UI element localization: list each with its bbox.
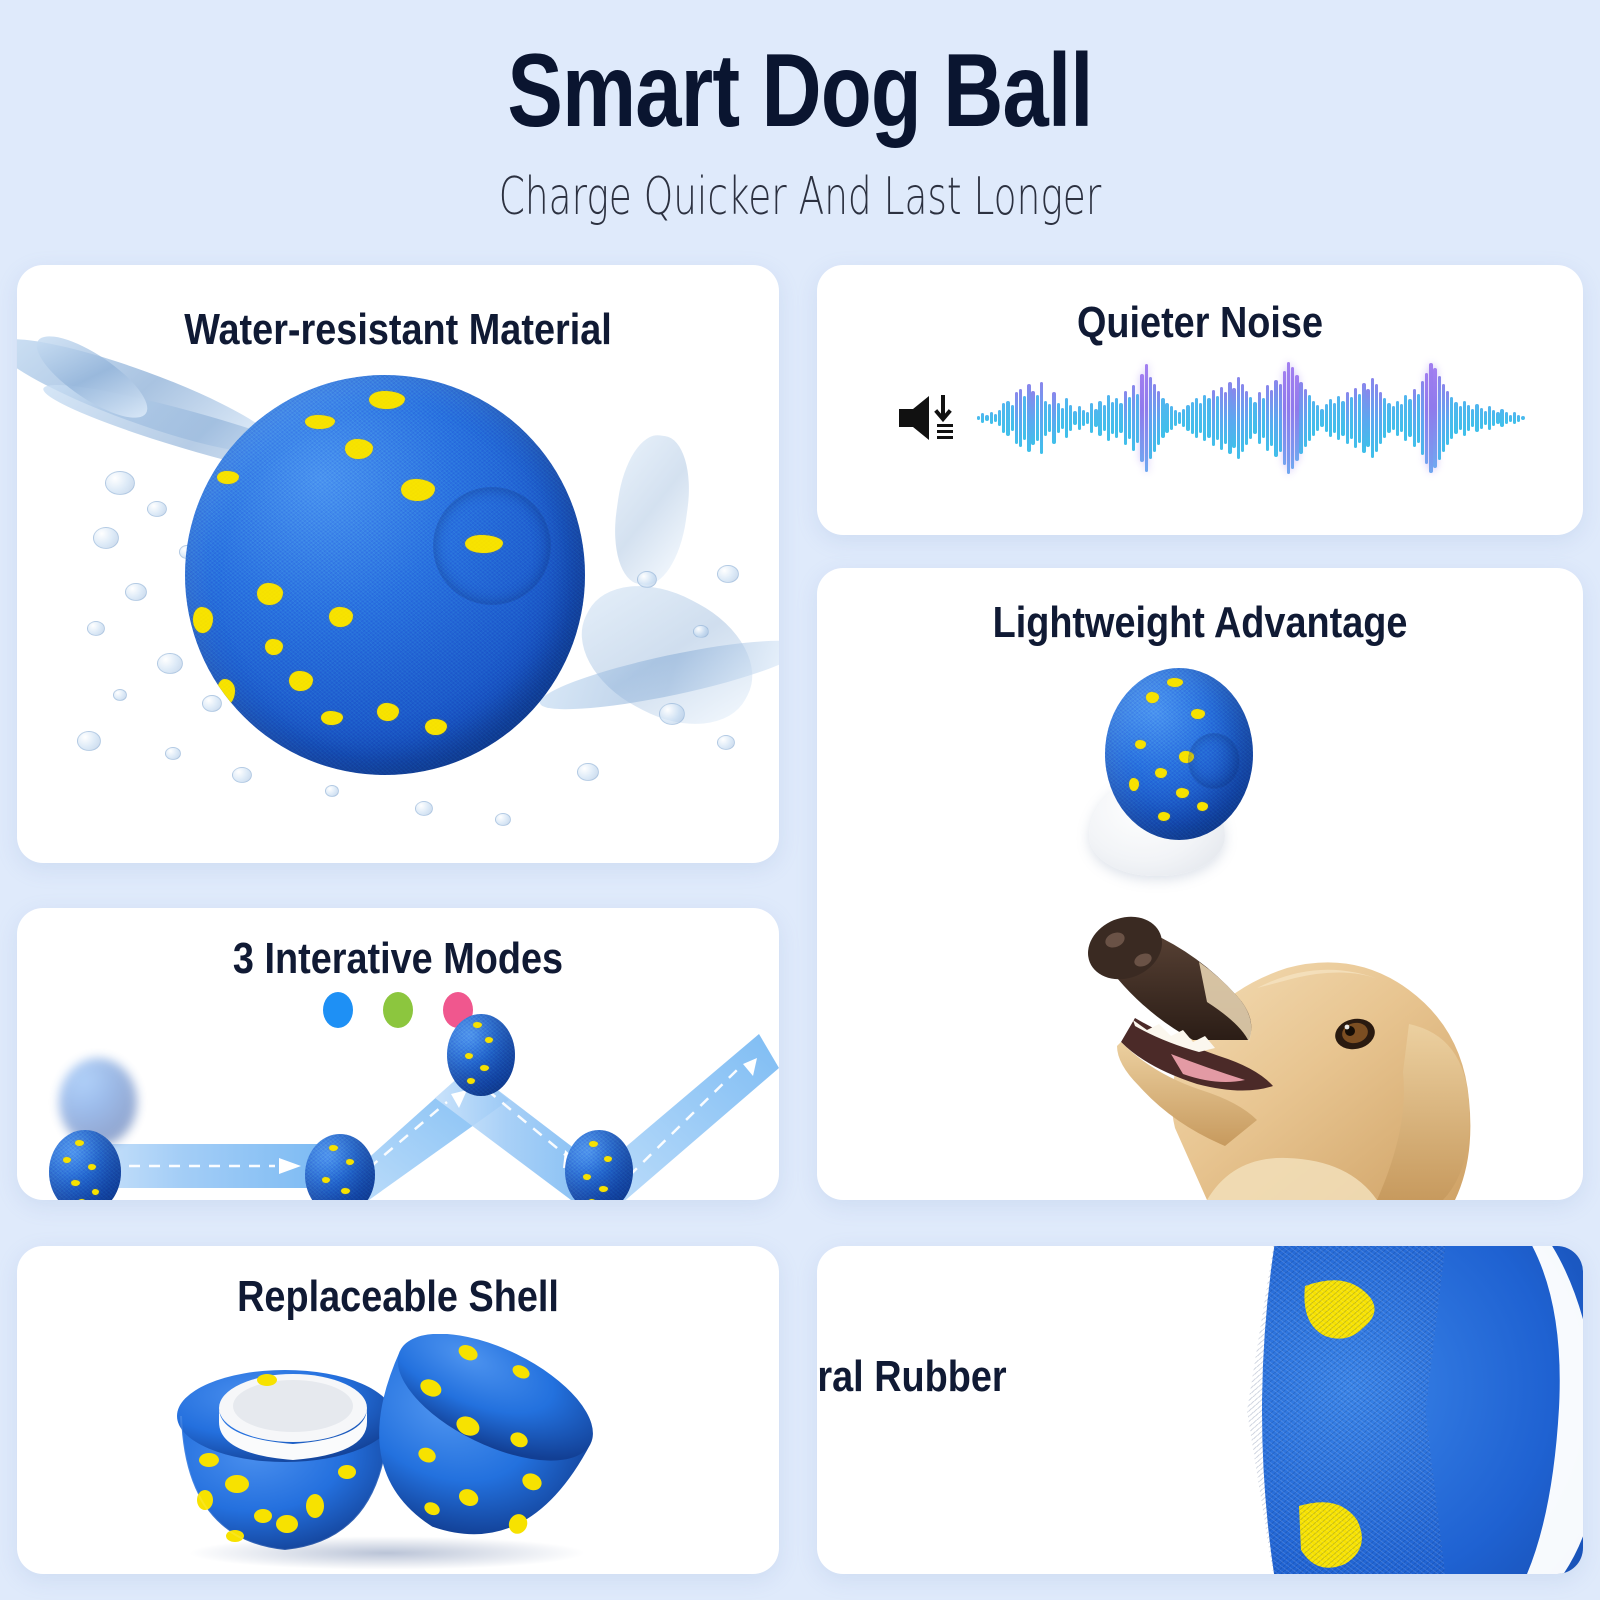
waveform-bar (1149, 377, 1152, 459)
waveform-bar (1207, 398, 1210, 438)
rubber-shell-closeup (1247, 1246, 1583, 1574)
waveform-bar (1237, 377, 1240, 459)
waveform-bar (1446, 391, 1449, 445)
waveform-bar (1103, 405, 1106, 431)
waveform-bar (1295, 375, 1298, 461)
waveform-bar (1249, 397, 1252, 439)
waveform-bar (1174, 410, 1177, 426)
waveform-bar (1379, 392, 1382, 443)
waveform-bar (1119, 403, 1122, 433)
waveform-bar (1404, 395, 1407, 442)
waveform-bar (1362, 383, 1365, 453)
waveform-bar (1433, 368, 1436, 468)
waveform-bar (1325, 404, 1328, 432)
waveform-bar (1245, 391, 1248, 445)
waveform-bar (1283, 371, 1286, 464)
waveform-bar (1195, 398, 1198, 438)
waveform-bar (1266, 385, 1269, 450)
waveform-bar (1078, 406, 1081, 429)
waveform-bar (981, 413, 984, 422)
waveform-bar (1375, 384, 1378, 452)
waveform-bar (1480, 408, 1483, 429)
waveform-bar (1454, 402, 1457, 435)
waveform-bar (1467, 405, 1470, 431)
waveform-bar (1312, 401, 1315, 436)
feature-card-replaceable-shell[interactable]: Replaceable Shell (17, 1246, 779, 1574)
waveform-bar (1040, 382, 1043, 454)
product-infographic: Smart Dog Ball Charge Quicker And Last L… (0, 0, 1600, 1600)
waveform-bar (1396, 401, 1399, 436)
waveform-bar (1496, 412, 1499, 424)
waveform-bar (1429, 363, 1432, 473)
shell-half-tilted (353, 1334, 593, 1552)
page-subtitle: Charge Quicker And Last Longer (224, 168, 1376, 226)
card-title-replaceable-shell: Replaceable Shell (70, 1272, 725, 1322)
waveform-bar (1241, 384, 1244, 452)
waveform-bar (1065, 398, 1068, 438)
waveform-bar (1186, 405, 1189, 431)
feature-card-quieter-noise[interactable]: Quieter Noise (817, 265, 1583, 535)
card-title-interactive-modes: 3 Interative Modes (70, 934, 725, 984)
waveform-bar (1061, 408, 1064, 429)
waveform-bar (1212, 390, 1215, 446)
feature-card-interactive-modes[interactable]: 3 Interative Modes (17, 908, 779, 1200)
waveform-bar (990, 412, 993, 424)
waveform-bar (1320, 409, 1323, 428)
waveform-bar (1115, 398, 1118, 438)
waveform-bar (1224, 392, 1227, 443)
waveform-bar (1442, 384, 1445, 452)
waveform-bar (1299, 382, 1302, 454)
waveform-bar (1463, 401, 1466, 436)
waveform-bar (1475, 404, 1478, 432)
waveform-bar (1337, 396, 1340, 440)
waveform-bar (998, 410, 1001, 426)
waveform-bar (1500, 409, 1503, 428)
waveform-bar (1358, 394, 1361, 443)
waveform-bar (1413, 389, 1416, 447)
waveform-bar (1417, 394, 1420, 443)
waveform-bar (1304, 389, 1307, 447)
waveform-bar (1023, 396, 1026, 440)
feature-card-water-resistant[interactable]: Water-resistant Material (17, 265, 779, 863)
waveform-bar (1036, 395, 1039, 442)
waveform-bar (1203, 395, 1206, 442)
waveform-bar (1488, 406, 1491, 429)
waveform-bar (1513, 412, 1516, 424)
waveform-bar (1521, 416, 1524, 421)
waveform-bar (1371, 378, 1374, 457)
header: Smart Dog Ball Charge Quicker And Last L… (0, 0, 1600, 252)
waveform-bar (985, 415, 988, 421)
waveform-bar (1145, 364, 1148, 471)
waveform-bar (1316, 405, 1319, 431)
card-title-quieter-noise: Quieter Noise (871, 298, 1530, 348)
waveform-bar (1421, 381, 1424, 456)
waveform-bar (1341, 401, 1344, 436)
waveform-bar (1044, 401, 1047, 436)
waveform-bar (1057, 403, 1060, 433)
waveform-bar (1346, 392, 1349, 443)
waveform-bar (1006, 401, 1009, 436)
waveform-bar (1191, 402, 1194, 435)
product-ball-small-image (1105, 668, 1253, 840)
waveform-bar (1354, 388, 1357, 449)
waveform-bar (1459, 406, 1462, 429)
waveform-bar (1136, 394, 1139, 443)
waveform-bar (1098, 401, 1101, 436)
mode-color-dots (17, 992, 779, 1028)
waveform-bar (994, 414, 997, 422)
waveform-bar (1178, 412, 1181, 424)
waveform-bar (1048, 404, 1051, 432)
waveform-bar (1333, 403, 1336, 433)
waveform-bar (1094, 409, 1097, 428)
waveform-bar (1387, 403, 1390, 433)
waveform-bar (1027, 384, 1030, 452)
waveform-bar (1019, 389, 1022, 447)
waveform-bar (1069, 405, 1072, 431)
waveform-bar (1509, 415, 1512, 422)
waveform-bar (1425, 373, 1428, 464)
mode-dot-green (383, 992, 413, 1028)
waveform-bar (1090, 403, 1093, 433)
waveform-bar (1199, 403, 1202, 433)
waveform-bar (1308, 395, 1311, 442)
waveform-bar (1128, 397, 1131, 439)
waveform-bar (1450, 397, 1453, 439)
waveform-bar (1165, 403, 1168, 433)
waveform-bar (1350, 397, 1353, 439)
waveform-bar (1111, 402, 1114, 435)
waveform-bar (1232, 388, 1235, 449)
waveform-bar (1002, 403, 1005, 433)
waveform-bar (1124, 391, 1127, 445)
waveform-bar (1279, 384, 1282, 452)
bounce-ball-3 (447, 1014, 515, 1096)
waveform-bar (977, 416, 980, 421)
waveform-bar (1262, 398, 1265, 438)
waveform-bar (1484, 411, 1487, 425)
waveform-bar (1182, 409, 1185, 428)
page-title: Smart Dog Ball (160, 38, 1440, 144)
waveform-bar (1274, 380, 1277, 457)
speaker-volume-down-icon (895, 393, 961, 443)
mode-dot-blue (323, 992, 353, 1028)
waveform-bar (1291, 367, 1294, 470)
waveform-bar (1132, 385, 1135, 450)
waveform-bar (1170, 406, 1173, 429)
waveform-bar (1015, 392, 1018, 443)
waveform-bar (1216, 396, 1219, 440)
waveform-bar (1228, 382, 1231, 454)
waveform-bar (1471, 409, 1474, 428)
waveform-bar (1492, 410, 1495, 426)
product-ball-image (185, 375, 585, 775)
waveform-bar (1031, 391, 1034, 445)
waveform-bar (1073, 411, 1076, 425)
feature-card-lightweight-advantage[interactable]: Lightweight Advantage (817, 568, 1583, 1200)
waveform-bar (1408, 399, 1411, 436)
waveform-bar (1329, 399, 1332, 436)
waveform-bar (1082, 410, 1085, 426)
waveform-bar (1392, 406, 1395, 429)
waveform-bar (1011, 405, 1014, 431)
waveform-bar (1220, 387, 1223, 450)
waveform-bar (1253, 402, 1256, 435)
waveform-bar (1157, 391, 1160, 445)
feature-card-natural-rubber[interactable]: Natural Rubber (817, 1246, 1583, 1574)
waveform-bar (1052, 392, 1055, 443)
golden-retriever-photo (957, 828, 1517, 1200)
waveform-bar (1161, 398, 1164, 438)
waveform-bar (1383, 398, 1386, 438)
waveform-bar (1270, 390, 1273, 446)
waveform-bar (1438, 376, 1441, 460)
waveform-bar (1505, 412, 1508, 424)
waveform-bar (1107, 395, 1110, 442)
waveform-bar (1086, 412, 1089, 424)
waveform-bar (1287, 362, 1290, 474)
waveform-bar (1400, 404, 1403, 432)
waveform-bar (1140, 374, 1143, 463)
waveform-bar (1517, 415, 1520, 422)
waveform-bar (1258, 392, 1261, 443)
waveform-bar (1366, 389, 1369, 447)
waveform-bar (1153, 384, 1156, 452)
card-title-natural-rubber: Natural Rubber (817, 1352, 1199, 1402)
card-title-water-resistant: Water-resistant Material (70, 305, 725, 355)
card-title-lightweight-advantage: Lightweight Advantage (871, 598, 1530, 648)
